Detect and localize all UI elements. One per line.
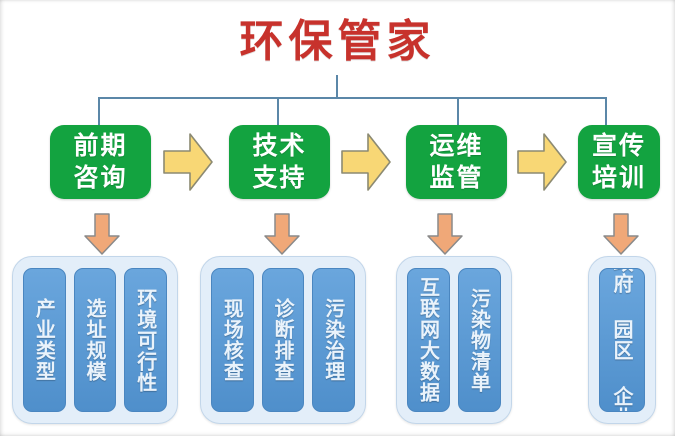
stage-box-qianqi-zixun[interactable]: 前期 咨询 bbox=[50, 125, 151, 199]
detail-group-2: 现场核查 诊断排查 污染治理 bbox=[200, 256, 366, 424]
connector-horizontal-bar bbox=[98, 97, 606, 99]
detail-pill[interactable]: 选址规模 bbox=[74, 268, 117, 412]
detail-pill[interactable]: 互联网大数据 bbox=[407, 268, 450, 412]
stage-box-jishu-zhichi[interactable]: 技术 支持 bbox=[229, 125, 330, 199]
right-arrow-icon bbox=[516, 131, 568, 193]
stage-2-line-2: 支持 bbox=[252, 162, 306, 194]
right-arrow-icon bbox=[340, 131, 392, 193]
connector-drop-1 bbox=[98, 97, 100, 126]
right-arrow-icon bbox=[162, 131, 214, 193]
down-arrow-icon bbox=[82, 212, 122, 256]
detail-group-3: 互联网大数据 污染物清单 bbox=[396, 256, 512, 424]
stage-box-yunwei-jianguan[interactable]: 运维 监管 bbox=[406, 125, 507, 199]
detail-pill[interactable]: 产业类型 bbox=[23, 268, 66, 412]
down-arrow-icon bbox=[425, 212, 465, 256]
detail-pill[interactable]: 诊断排查 bbox=[262, 268, 305, 412]
down-arrow-3 bbox=[425, 212, 465, 256]
detail-pill[interactable]: 政府 园区 企业 bbox=[599, 268, 645, 412]
stage-3-line-1: 运维 bbox=[429, 130, 483, 162]
detail-pill[interactable]: 污染治理 bbox=[312, 268, 355, 412]
flow-arrow-right-3 bbox=[516, 131, 568, 193]
down-arrow-1 bbox=[82, 212, 122, 256]
detail-pill[interactable]: 现场核查 bbox=[211, 268, 254, 412]
detail-group-4: 政府 园区 企业 bbox=[588, 256, 656, 424]
stage-1-line-1: 前期 bbox=[73, 130, 127, 162]
stage-3-line-2: 监管 bbox=[429, 162, 483, 194]
connector-drop-4 bbox=[605, 97, 607, 126]
detail-group-1: 产业类型 选址规模 环境可行性 bbox=[12, 256, 178, 424]
down-arrow-4 bbox=[601, 212, 641, 256]
stage-box-xuanchuan-peixun[interactable]: 宣传 培训 bbox=[578, 125, 660, 199]
down-arrow-icon bbox=[601, 212, 641, 256]
stage-2-line-1: 技术 bbox=[252, 130, 306, 162]
flow-arrow-right-2 bbox=[340, 131, 392, 193]
down-arrow-2 bbox=[262, 212, 302, 256]
connector-drop-3 bbox=[457, 97, 459, 126]
stage-4-line-2: 培训 bbox=[592, 162, 646, 194]
diagram-canvas: 环保管家 前期 咨询 技术 支持 运维 监管 宣传 培训 bbox=[0, 0, 675, 436]
detail-pill[interactable]: 环境可行性 bbox=[124, 268, 167, 412]
page-title: 环保管家 bbox=[0, 14, 675, 70]
down-arrow-icon bbox=[262, 212, 302, 256]
connector-drop-2 bbox=[277, 97, 279, 126]
stage-4-line-1: 宣传 bbox=[592, 130, 646, 162]
stage-1-line-2: 咨询 bbox=[73, 162, 127, 194]
flow-arrow-right-1 bbox=[162, 131, 214, 193]
detail-pill[interactable]: 污染物清单 bbox=[458, 268, 501, 412]
connector-title-stub bbox=[336, 75, 338, 98]
